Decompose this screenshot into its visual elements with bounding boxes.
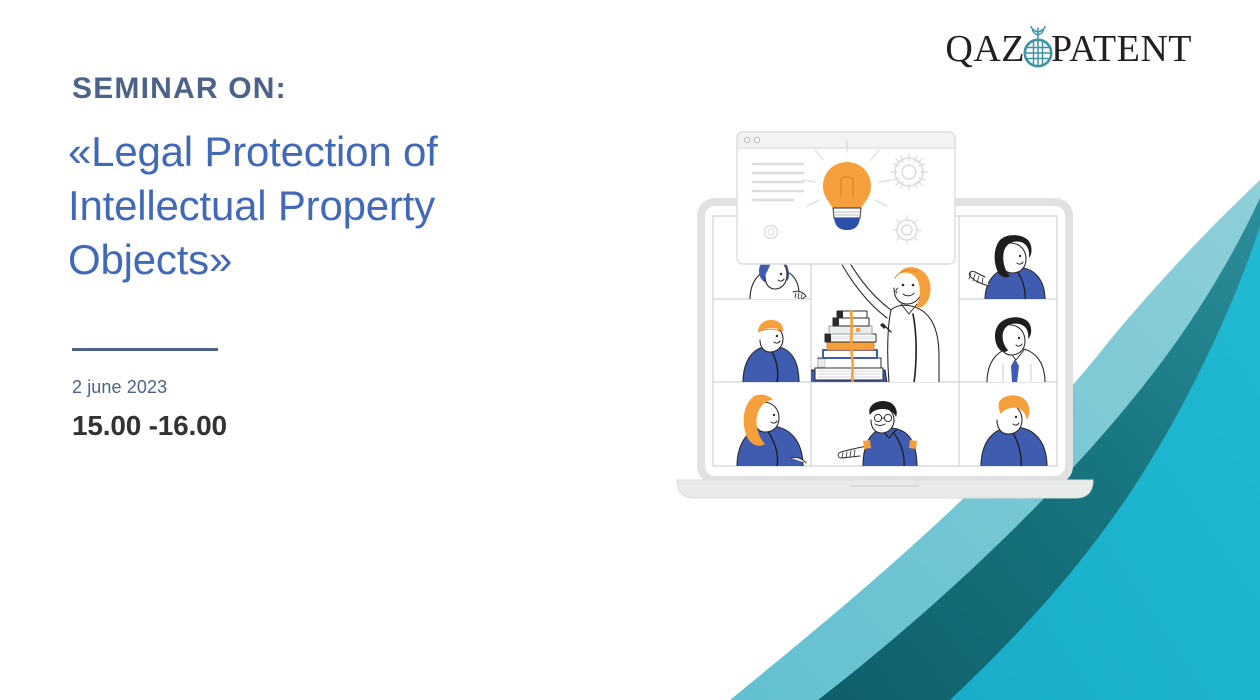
logo-word-patent: PATENT	[1051, 30, 1192, 68]
divider-rule	[72, 348, 218, 351]
page-title: «Legal Protection of Intellectual Proper…	[68, 125, 608, 286]
laptop-base	[677, 480, 1093, 498]
browser-card	[737, 132, 955, 264]
event-time: 15.00 -16.00	[72, 410, 608, 442]
logo-word-qaz: QAZ	[945, 30, 1025, 68]
poster-canvas: QAZ PATE	[0, 0, 1260, 700]
text-column: SEMINAR ON: «Legal Protection of Intelle…	[68, 72, 608, 442]
online-seminar-illustration	[655, 128, 1115, 508]
event-date: 2 june 2023	[72, 377, 608, 398]
dombra-emblem-icon	[1018, 26, 1058, 70]
eyebrow-label: SEMINAR ON:	[72, 72, 608, 105]
brand-logo[interactable]: QAZ PATE	[945, 26, 1192, 72]
